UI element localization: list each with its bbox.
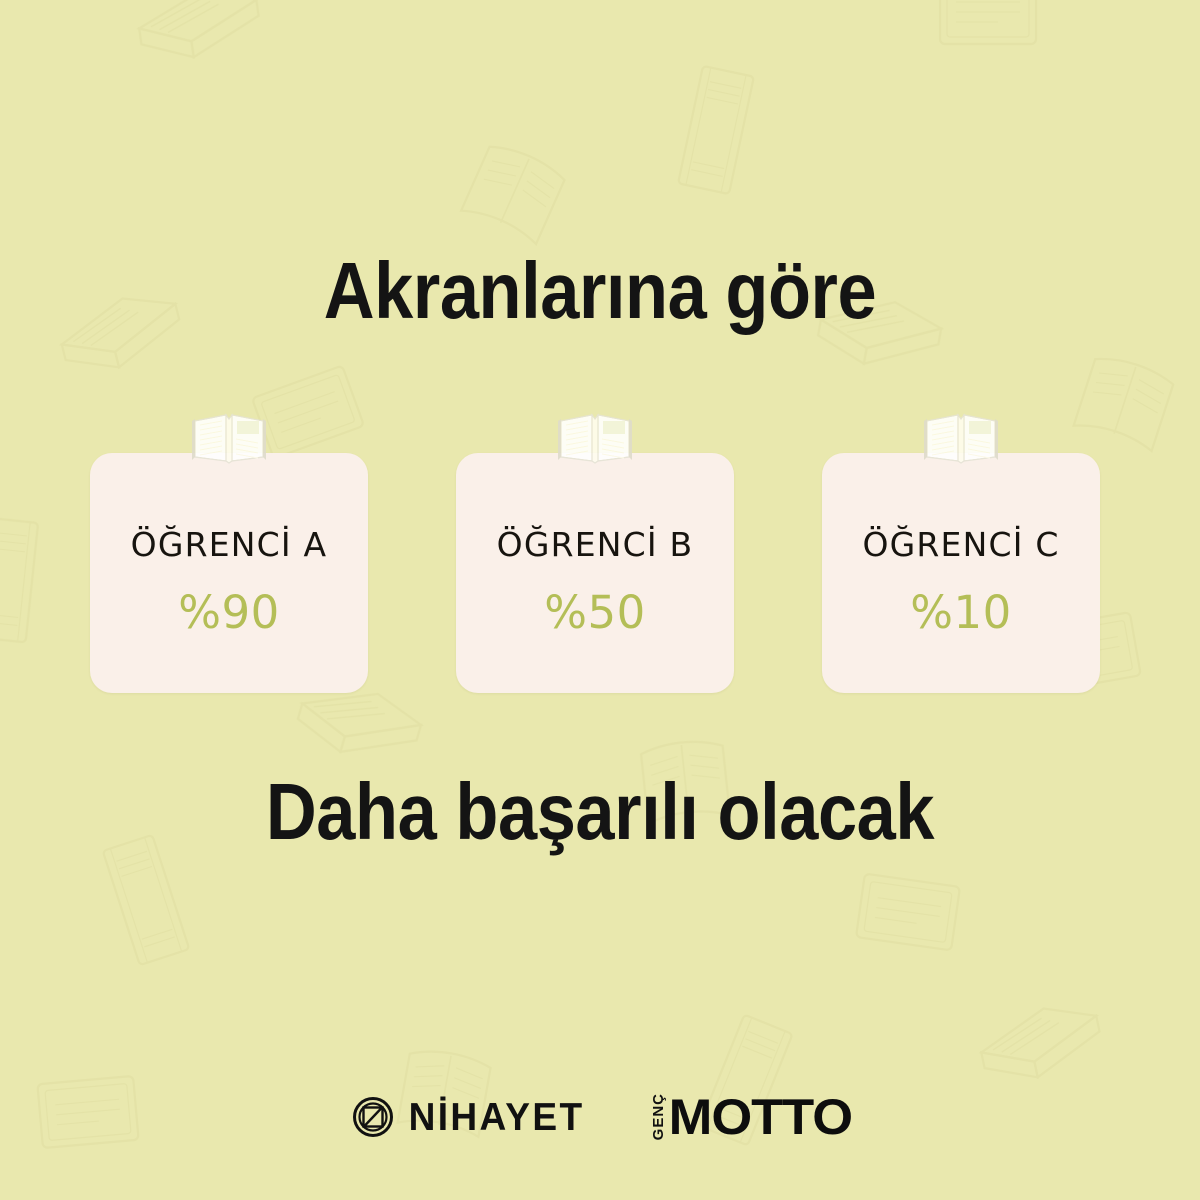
student-card-value: %50: [544, 586, 646, 639]
genc-label: GENÇ: [651, 1093, 666, 1140]
student-card-label: ÖĞRENCİ B: [497, 525, 694, 564]
genc-motto-logo: GENÇ MOTTO: [651, 1092, 848, 1142]
student-card-label: ÖĞRENCİ A: [131, 525, 328, 564]
student-card-label: ÖĞRENCİ C: [862, 525, 1059, 564]
nihayet-wordmark: NİHAYET: [408, 1098, 584, 1137]
open-book-icon: [924, 411, 998, 467]
nihayet-logo: NİHAYET: [353, 1097, 589, 1137]
student-cards-row: ÖĞRENCİ A %90 ÖĞRENCİ B %50: [90, 453, 1100, 693]
motto-wordmark: MOTTO: [668, 1092, 851, 1142]
student-card-value: %90: [178, 586, 280, 639]
poster-canvas: Akranlarına göre ÖĞRENCİ A %90: [0, 0, 1200, 1200]
student-card-c: ÖĞRENCİ C %10: [822, 453, 1100, 693]
student-card-value: %10: [910, 586, 1012, 639]
student-card-a: ÖĞRENCİ A %90: [90, 453, 368, 693]
student-card-b: ÖĞRENCİ B %50: [456, 453, 734, 693]
nihayet-circle-n-icon: [353, 1097, 393, 1137]
headline-top: Akranlarına göre: [72, 243, 1128, 339]
footer-logos: NİHAYET GENÇ MOTTO: [0, 1092, 1200, 1142]
open-book-icon: [558, 411, 632, 467]
open-book-icon: [192, 411, 266, 467]
headline-bottom: Daha başarılı olacak: [72, 764, 1128, 860]
